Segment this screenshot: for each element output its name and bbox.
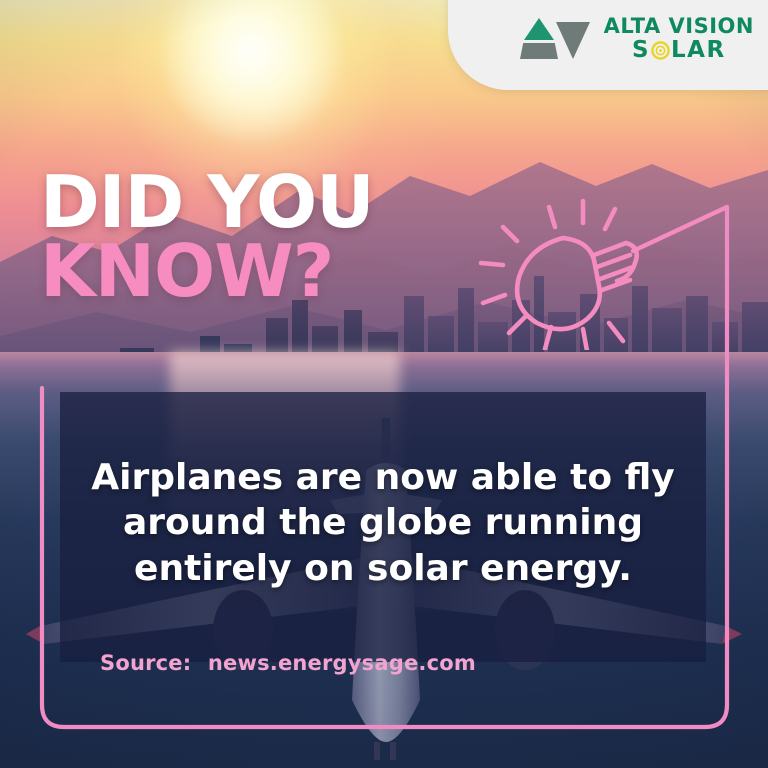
fact-line-1: Airplanes are now able to fly	[62, 455, 704, 500]
fact-text: Airplanes are now able to fly around the…	[62, 455, 704, 591]
fact-line-3: entirely on solar energy.	[62, 546, 704, 591]
source-attribution: Source: news.energysage.com	[100, 651, 476, 675]
source-url: news.energysage.com	[208, 651, 476, 675]
fact-line-2: around the globe running	[62, 500, 704, 545]
source-label: Source:	[100, 651, 191, 675]
poster-canvas: ALTA VISION S LAR DID YOU KNOW?	[0, 0, 768, 768]
